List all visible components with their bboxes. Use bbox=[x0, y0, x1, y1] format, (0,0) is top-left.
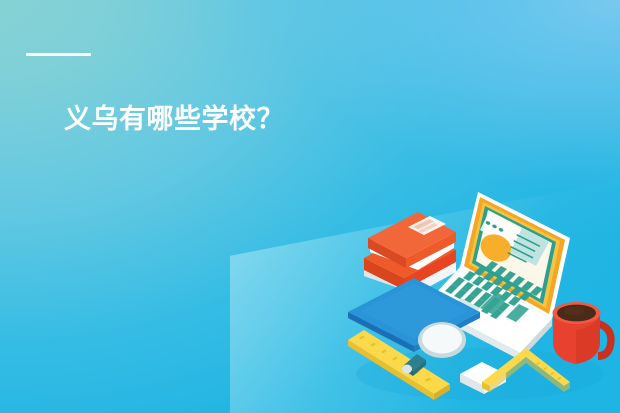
illustration-desk-scene bbox=[330, 178, 620, 413]
page-title: 义乌有哪些学校？ bbox=[64, 104, 284, 136]
banner: 义乌有哪些学校？ bbox=[0, 0, 620, 413]
coffee-mug-icon bbox=[553, 302, 615, 364]
accent-rule bbox=[26, 53, 91, 56]
